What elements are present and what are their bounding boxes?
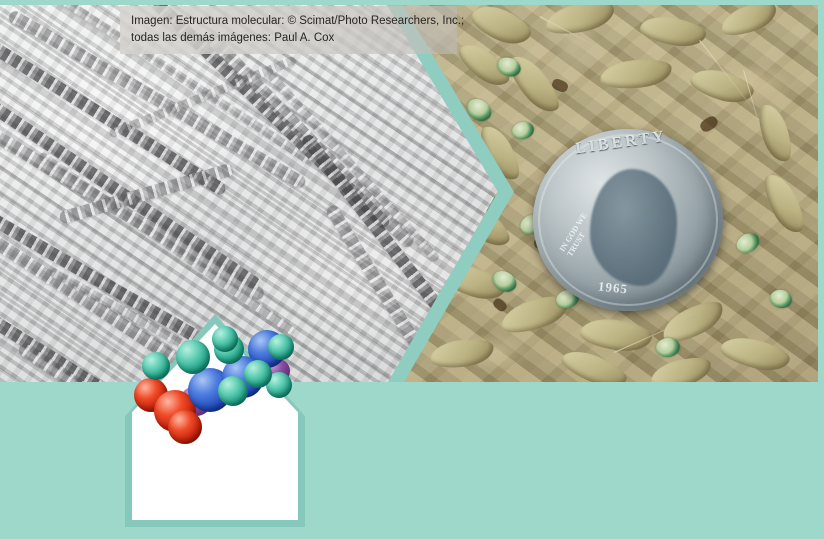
soil-debris — [491, 297, 508, 314]
root-cap — [463, 94, 496, 125]
root-nodule — [599, 56, 674, 91]
quarter-coin: LIBERTY IN GOD WE TRUST 1965 — [533, 129, 723, 311]
atom-hydrogen — [268, 334, 294, 360]
bacterial-filament — [37, 151, 296, 336]
atom-hydrogen — [176, 340, 210, 374]
root-cap — [655, 337, 681, 358]
root-nodule — [718, 332, 793, 376]
root-nodule — [543, 0, 617, 39]
rootlet — [743, 70, 763, 138]
right-edge-strip — [818, 0, 824, 382]
root-nodule — [758, 169, 810, 238]
root-cap — [733, 229, 763, 257]
root-nodule — [648, 353, 714, 382]
bmaa-molecular-model — [125, 314, 305, 527]
root-cap — [511, 120, 536, 141]
root-cap — [768, 288, 794, 311]
root-nodule — [638, 12, 708, 50]
atom-hydrogen — [218, 376, 248, 406]
magazine-page: LIBERTY IN GOD WE TRUST 1965 — [0, 0, 824, 539]
coin-date-text: 1965 — [597, 279, 629, 298]
image-credit-box: Imagen: Estructura molecular: © Scimat/P… — [120, 6, 457, 54]
credit-line-2: todas las demás imágenes: Paul A. Cox — [131, 30, 447, 47]
top-edge-strip — [0, 0, 824, 5]
photo-area: LIBERTY IN GOD WE TRUST 1965 — [0, 0, 824, 382]
atom-hydrogen — [244, 360, 272, 388]
credit-line-1: Imagen: Estructura molecular: © Scimat/P… — [131, 13, 447, 30]
molecule-atoms — [132, 324, 298, 520]
root-nodule — [717, 0, 780, 41]
root-nodule — [467, 0, 536, 51]
coin-portrait — [590, 169, 677, 285]
bottom-panel: (Esta página) La BMAA es producida por e… — [0, 382, 824, 539]
atom-hydrogen — [212, 326, 238, 352]
soil-debris — [698, 114, 720, 134]
atom-oxygen — [168, 410, 202, 444]
root-nodule — [428, 336, 495, 372]
root-nodule — [578, 315, 653, 355]
atom-hydrogen — [142, 352, 170, 380]
root-nodule — [753, 100, 796, 165]
